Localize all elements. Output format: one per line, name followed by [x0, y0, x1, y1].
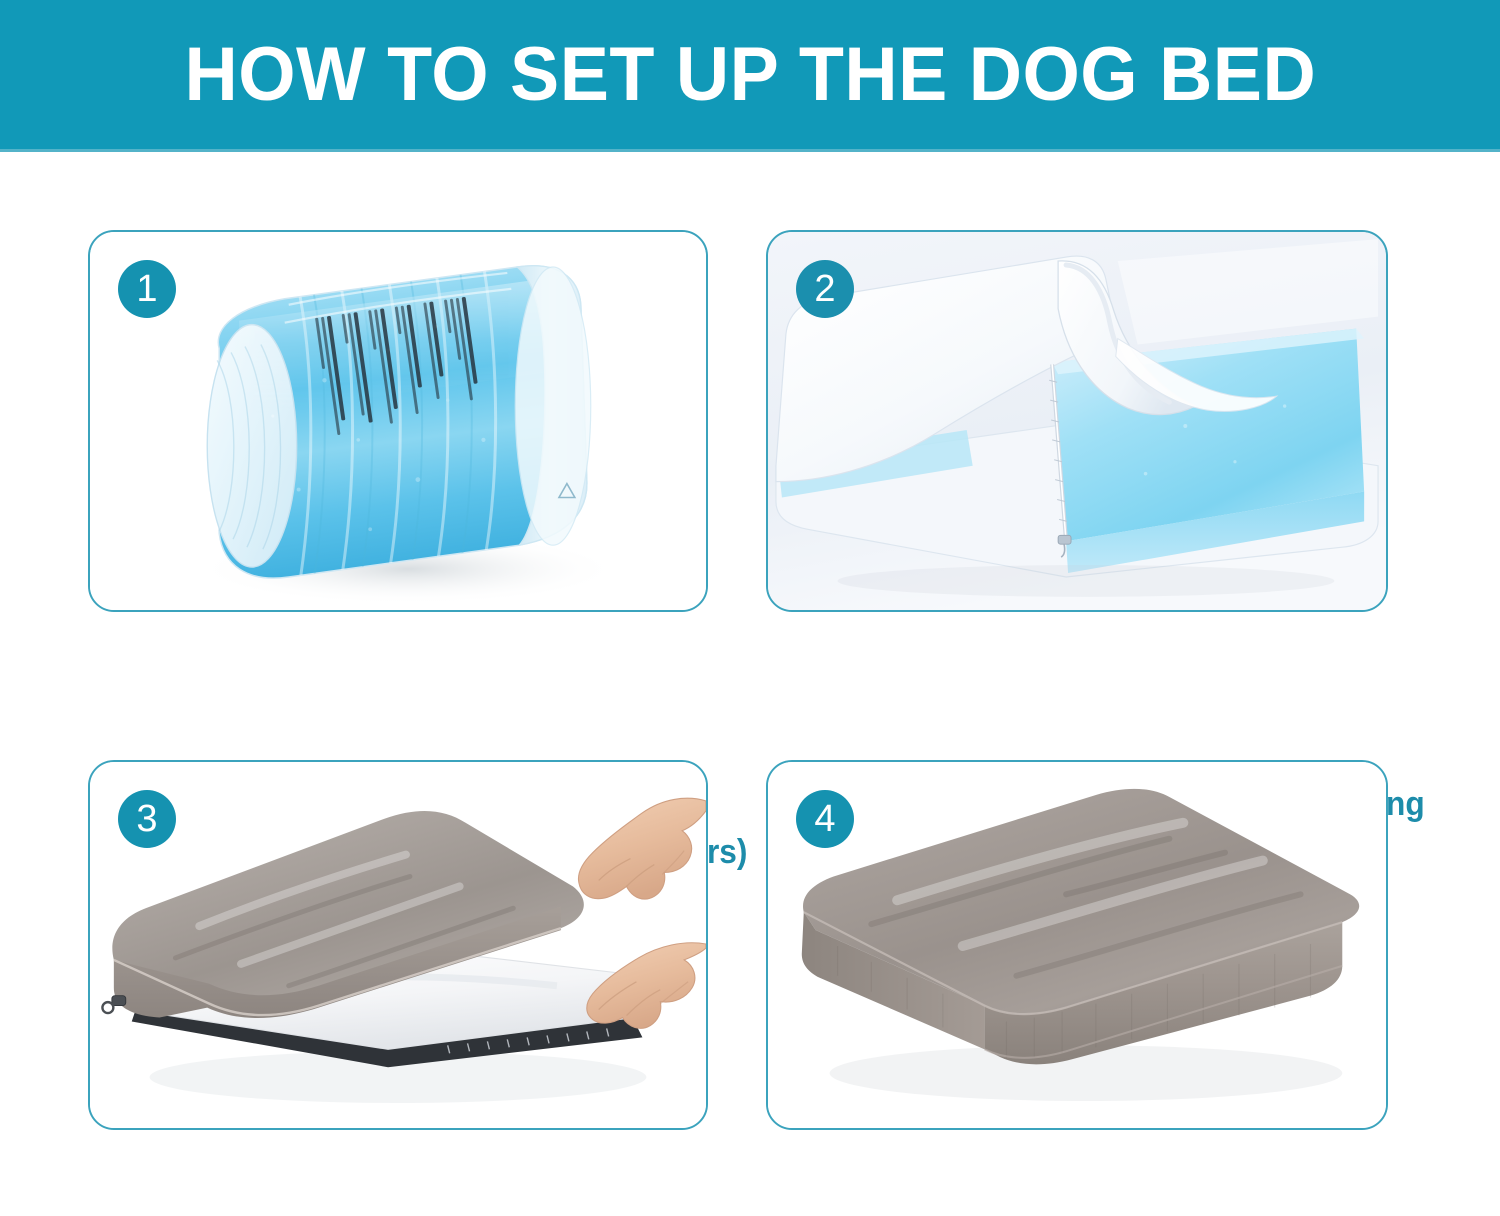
steps-grid: 1 — [0, 152, 1500, 1216]
step-card-4: 4 — [766, 760, 1388, 1130]
step-badge-1: 1 — [118, 260, 176, 318]
step-badge-2: 2 — [796, 260, 854, 318]
step-1-panel: 1 — [88, 230, 708, 612]
step-card-2: 2 — [766, 230, 1388, 612]
finished-dog-bed-photo — [768, 762, 1386, 1128]
header-banner: HOW TO SET UP THE DOG BED — [0, 0, 1500, 152]
step-card-3: 3 — [88, 760, 708, 1130]
step-badge-3: 3 — [118, 790, 176, 848]
liner-over-gel-foam-photo — [768, 232, 1386, 610]
page-title: HOW TO SET UP THE DOG BED — [184, 37, 1316, 113]
step-4-panel: 4 — [766, 760, 1388, 1130]
compressed-roll-photo — [90, 232, 706, 610]
step-badge-4: 4 — [796, 790, 854, 848]
stuffing-plush-cover-photo — [90, 762, 706, 1128]
step-3-panel: 3 — [88, 760, 708, 1130]
step-2-panel: 2 — [766, 230, 1388, 612]
step-card-1: 1 — [88, 230, 708, 612]
infographic-page: { "banner": { "title": "HOW TO SET UP TH… — [0, 0, 1500, 1216]
